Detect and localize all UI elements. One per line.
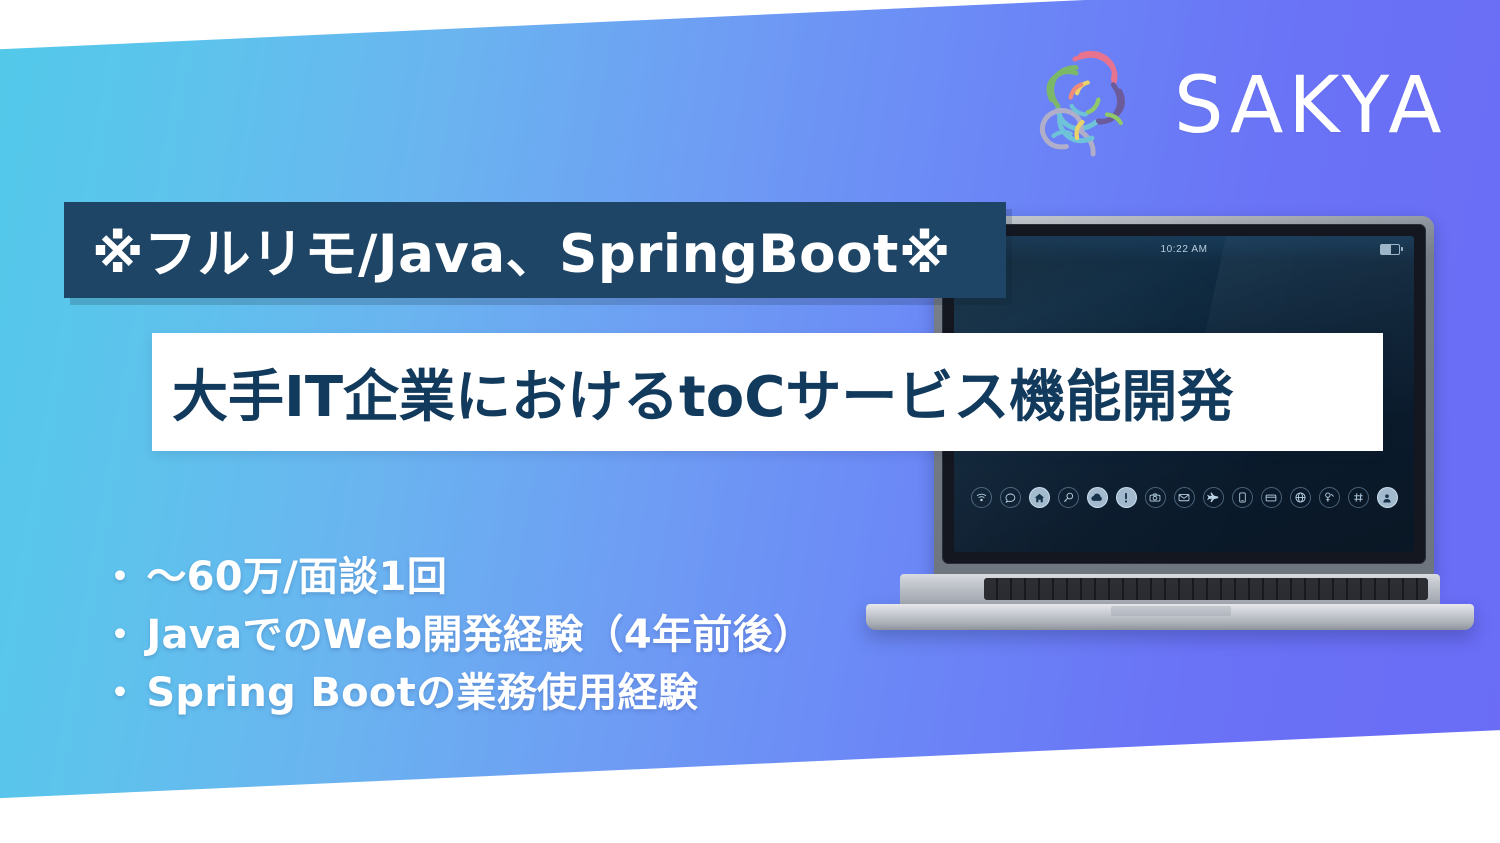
sakya-logo: SAKYA	[1028, 44, 1447, 168]
sakya-logo-text: SAKYA	[1174, 67, 1447, 145]
laptop-trackpad	[1111, 606, 1231, 616]
poster-canvas: 10:22 AM	[0, 0, 1500, 843]
camera-icon[interactable]	[1145, 487, 1166, 508]
card-icon[interactable]	[1261, 487, 1282, 508]
airplane-icon[interactable]	[1203, 487, 1224, 508]
tagline-banner: ※フルリモ/Java、SpringBoot※	[64, 202, 1006, 298]
alert-icon[interactable]	[1116, 487, 1137, 508]
bullet-marker: ・	[100, 670, 140, 716]
list-item: ・〜60万/面談1回	[100, 548, 940, 606]
laptop-base	[866, 574, 1474, 636]
wifi-icon[interactable]	[971, 487, 992, 508]
screen-taskbar-icon-row	[954, 487, 1414, 508]
screen-clock: 10:22 AM	[1160, 244, 1207, 255]
mail-icon[interactable]	[1174, 487, 1195, 508]
cloud-icon[interactable]	[1087, 487, 1108, 508]
laptop-keyboard	[984, 578, 1428, 600]
requirements-list: ・〜60万/面談1回 ・JavaでのWeb開発経験（4年前後） ・Spring …	[100, 548, 940, 722]
globe-icon[interactable]	[1290, 487, 1311, 508]
home-icon[interactable]	[1029, 487, 1050, 508]
battery-icon	[1380, 244, 1400, 255]
title-banner: 大手IT企業におけるtoCサービス機能開発	[152, 333, 1383, 451]
link-icon[interactable]	[1319, 487, 1340, 508]
bullet-text: 〜60万/面談1回	[146, 554, 447, 600]
phone-icon[interactable]	[1232, 487, 1253, 508]
sakya-logo-mark	[1028, 44, 1156, 168]
grid-icon[interactable]	[1348, 487, 1369, 508]
tagline-text: ※フルリモ/Java、SpringBoot※	[92, 212, 951, 288]
list-item: ・Spring Bootの業務使用経験	[100, 664, 940, 722]
bullet-marker: ・	[100, 554, 140, 600]
bullet-marker: ・	[100, 612, 140, 658]
page-title: 大手IT企業におけるtoCサービス機能開発	[172, 352, 1233, 433]
bullet-text: JavaでのWeb開発経験（4年前後）	[146, 612, 813, 658]
list-item: ・JavaでのWeb開発経験（4年前後）	[100, 606, 940, 664]
search-key-icon[interactable]	[1058, 487, 1079, 508]
laptop-base-deck	[900, 574, 1440, 608]
user-icon[interactable]	[1377, 487, 1398, 508]
bullet-text: Spring Bootの業務使用経験	[146, 670, 698, 716]
chat-bubble-icon[interactable]	[1000, 487, 1021, 508]
screen-status-bar: 10:22 AM	[954, 236, 1414, 262]
